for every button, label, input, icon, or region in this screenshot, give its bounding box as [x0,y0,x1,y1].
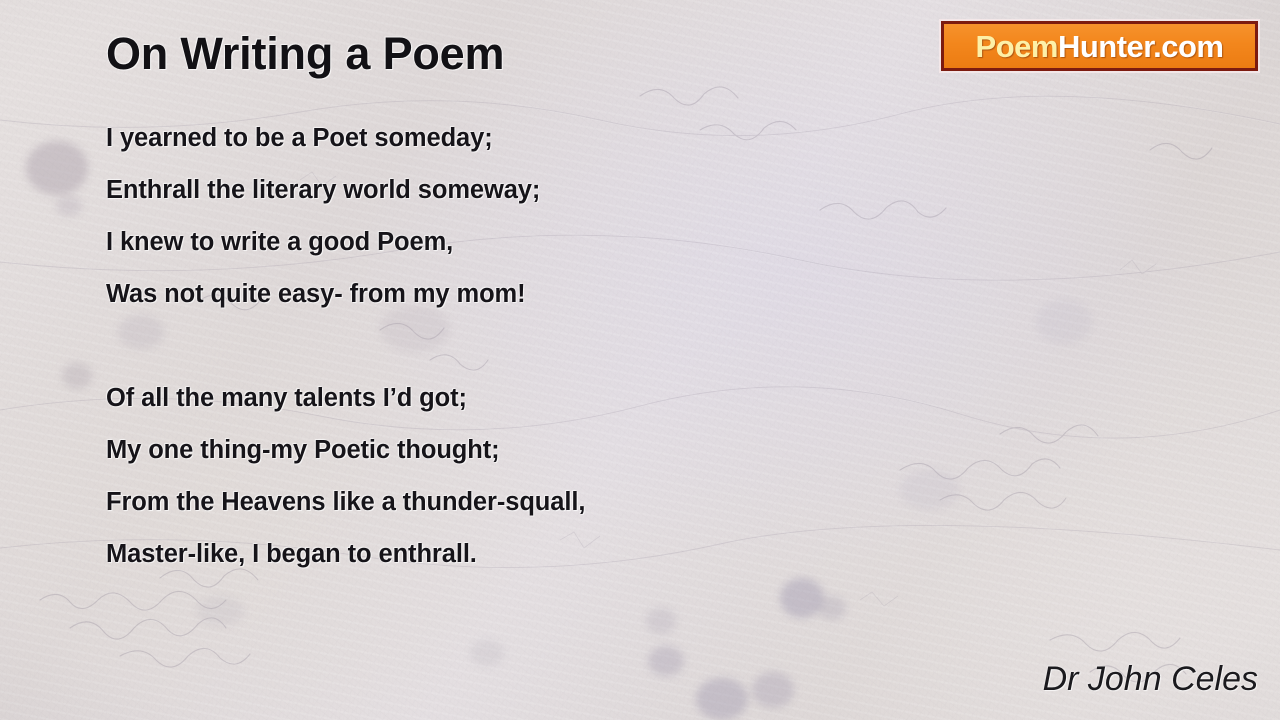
poem-line: Was not quite easy- from my mom! [106,268,926,320]
logo-text: PoemHunter.com [976,31,1224,62]
poem-slide: On Writing a Poem I yearned to be a Poet… [0,0,1280,720]
logo-text-poem: Poem [976,29,1058,64]
logo-text-hunter: Hunter.com [1058,29,1224,64]
poem-line: Master-like, I began to enthrall. [106,528,926,580]
poem-line: From the Heavens like a thunder-squall, [106,476,926,528]
poemhunter-logo-badge[interactable]: PoemHunter.com [941,21,1258,71]
poem-line: I knew to write a good Poem, [106,216,926,268]
page-title: On Writing a Poem [106,28,504,80]
author-signature: Dr John Celes [1043,660,1258,699]
poem-body: I yearned to be a Poet someday;Enthrall … [106,112,926,580]
poem-line: My one thing-my Poetic thought; [106,424,926,476]
poem-line: Enthrall the literary world someway; [106,164,926,216]
poem-line: Of all the many talents I’d got; [106,372,926,424]
poem-line: I yearned to be a Poet someday; [106,112,926,164]
poem-line-blank [106,320,926,372]
slide-content: On Writing a Poem I yearned to be a Poet… [0,0,1280,720]
